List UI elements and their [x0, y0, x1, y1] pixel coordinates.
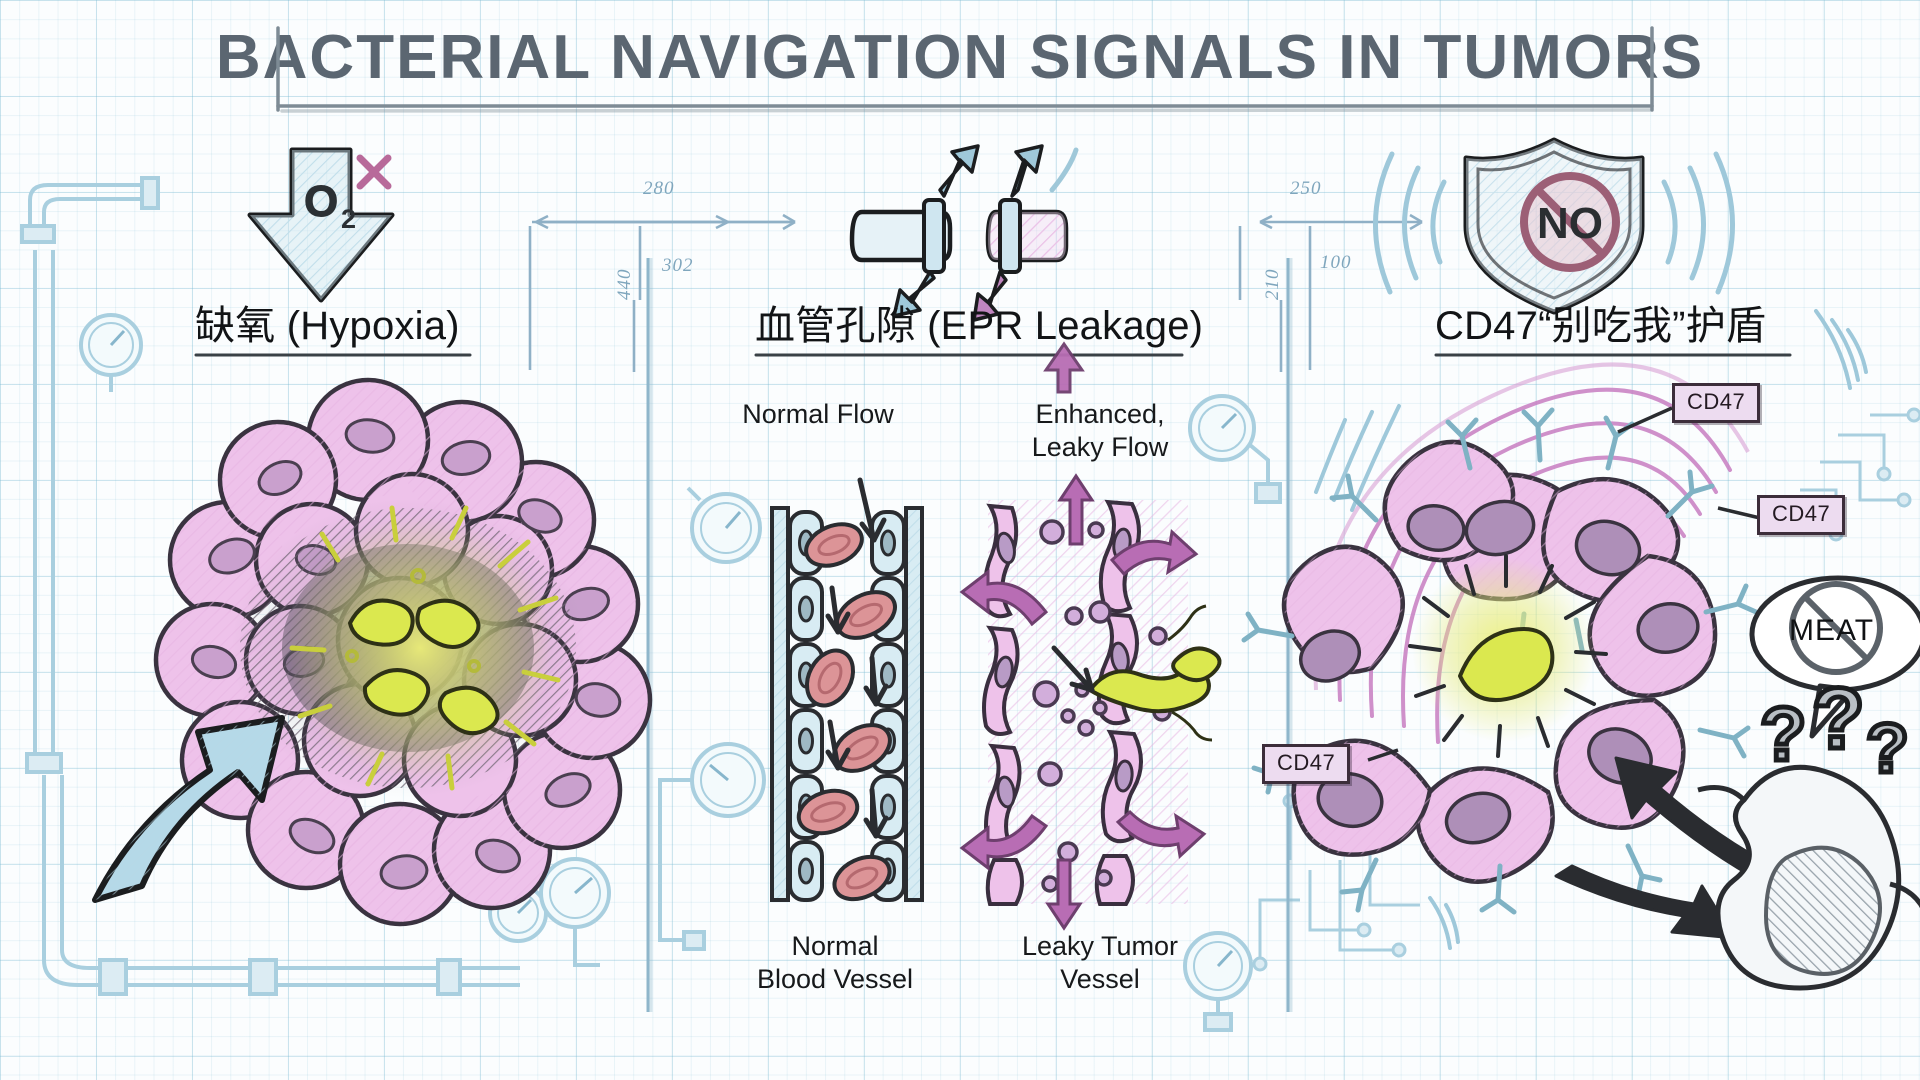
dimension-label-vert-2: 302 — [662, 255, 694, 277]
cd47-shielded-tumor: ? ? ? — [0, 0, 1920, 1080]
cd47-callout-mid-right: CD47 — [1757, 495, 1845, 535]
dimension-label-vert-1: 440 — [614, 269, 636, 301]
dimension-label-right: 250 — [1290, 178, 1322, 200]
cd47-callout-bottom-left: CD47 — [1262, 744, 1350, 784]
macrophage-speech-text: MEAT — [1789, 614, 1874, 648]
dimension-label-left: 280 — [643, 178, 675, 200]
confusion-marks: ? ? ? — [1760, 671, 1909, 787]
cd47-callout-top-right: CD47 — [1672, 383, 1760, 423]
dimension-label-vert-4: 100 — [1320, 252, 1352, 274]
svg-text:?: ? — [1812, 671, 1865, 767]
infographic-canvas: BACTERIAL NAVIGATION SIGNALS IN TUMORS O… — [0, 0, 1920, 1080]
macrophage — [1698, 767, 1920, 988]
dimension-label-vert-3: 210 — [1262, 269, 1284, 301]
svg-text:?: ? — [1866, 709, 1909, 787]
svg-text:?: ? — [1760, 692, 1806, 777]
